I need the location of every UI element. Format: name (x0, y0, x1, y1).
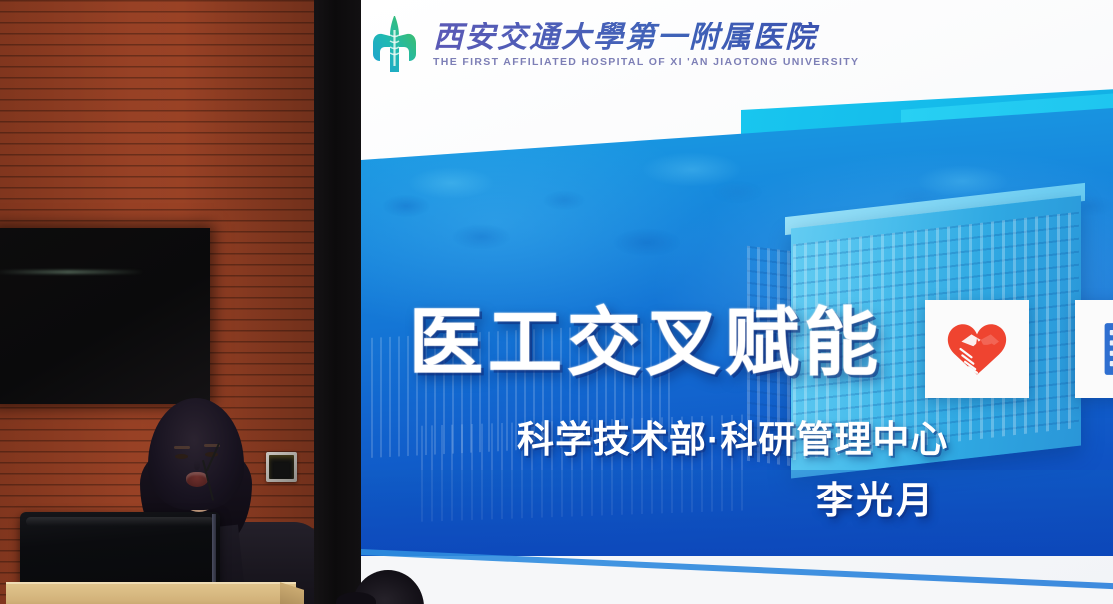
slide-presenter-name: 李光月 (816, 470, 936, 524)
campus-plaza (361, 470, 1113, 560)
presenter-nose (194, 460, 200, 470)
panel-glint (0, 270, 144, 274)
slide-subtitle: 科学技术部·科研管理中心 (517, 420, 948, 461)
icon-card-handshake (925, 300, 1029, 398)
presenter-brow-left (174, 446, 190, 449)
slide-title: 医工交叉赋能 (409, 306, 883, 380)
recessed-dark-panel (0, 228, 210, 404)
xjtu-hospital-logo-mark (369, 14, 421, 76)
confidence-monitor (20, 512, 220, 586)
presenter-hair (148, 398, 244, 510)
presenter-eye-left (175, 454, 188, 459)
hospital-logo-text: 西安交通大學第一附属医院 THE FIRST AFFILIATED HOSPIT… (433, 22, 859, 68)
handshake-heart-icon (940, 316, 1014, 382)
hospital-logo: 西安交通大學第一附属医院 THE FIRST AFFILIATED HOSPIT… (369, 14, 859, 76)
screen-bezel (314, 0, 361, 604)
document-chart-icon (1096, 316, 1113, 382)
monitor-stand (212, 514, 216, 586)
icon-card-document (1075, 300, 1113, 398)
hospital-name-en: THE FIRST AFFILIATED HOSPITAL OF XI 'AN … (433, 56, 859, 68)
lectern (6, 582, 296, 604)
projection-screen: 西安交通大學第一附属医院 THE FIRST AFFILIATED HOSPIT… (361, 0, 1113, 604)
screenshot-stage: 西安交通大學第一附属医院 THE FIRST AFFILIATED HOSPIT… (0, 0, 1113, 604)
hospital-name-cn: 西安交通大學第一附属医院 (433, 22, 859, 54)
